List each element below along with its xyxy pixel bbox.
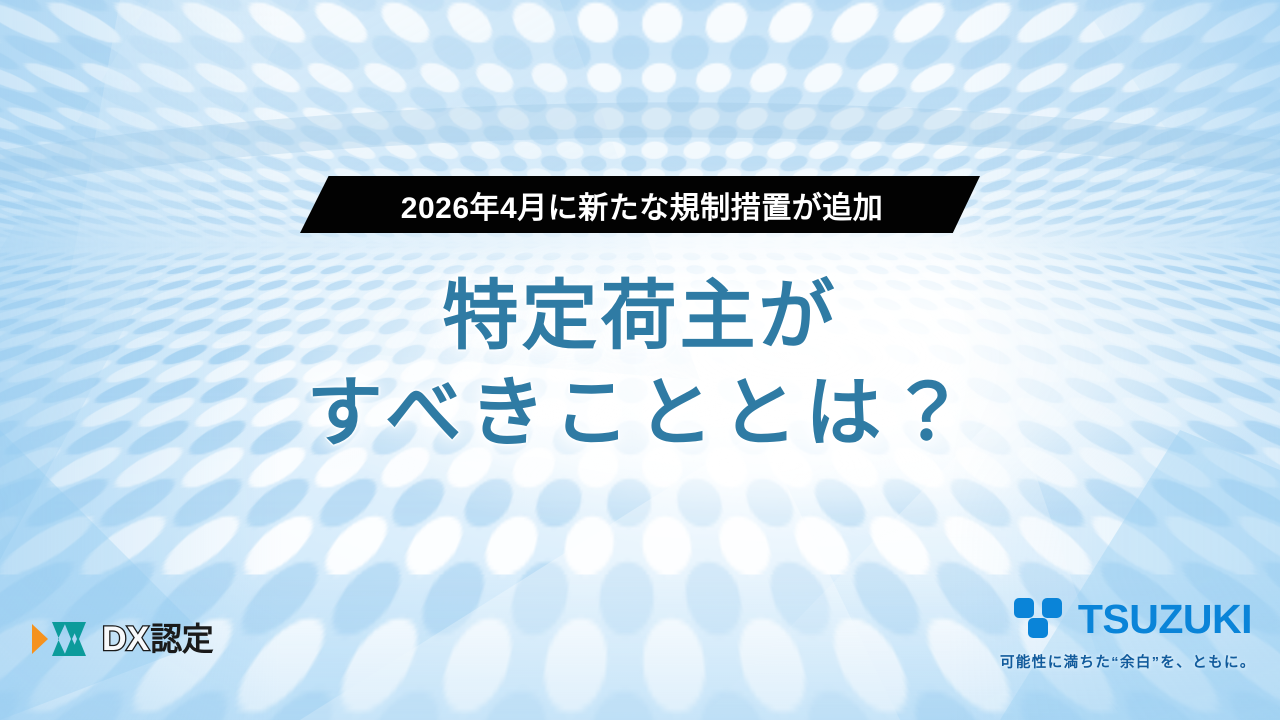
logo-square-top-right — [1042, 598, 1062, 618]
dx-hourglass-mark-icon — [30, 614, 92, 664]
banner-label: 2026年4月に新たな規制措置が追加 — [300, 176, 980, 233]
headline-line-2: すべきこととは？ — [0, 365, 1280, 462]
dx-badge-text: DX 認定 — [102, 622, 213, 656]
orange-triangle-icon — [32, 624, 48, 654]
tsuzuki-logo-top-row: TSUZUKI — [1000, 596, 1252, 642]
polygon-center-ray — [300, 430, 900, 720]
page-title: 特定荷主が すべきこととは？ — [0, 268, 1280, 463]
tsuzuki-tagline: 可能性に満ちた“余白”を、ともに。 — [1000, 651, 1252, 672]
tsuzuki-squares-mark-icon — [1012, 596, 1070, 642]
headline-line-1: 特定荷主が — [0, 268, 1280, 365]
slide-canvas: 2026年4月に新たな規制措置が追加 特定荷主が すべきこととは？ DX 認定 … — [0, 0, 1280, 720]
logo-square-bottom-center — [1028, 618, 1048, 638]
dx-latin-label: DX — [102, 622, 149, 656]
logo-square-top-left — [1014, 598, 1034, 618]
hourglass-left-icon — [52, 622, 66, 656]
tsuzuki-wordmark: TSUZUKI — [1078, 599, 1252, 640]
announcement-banner: 2026年4月に新たな規制措置が追加 — [300, 176, 980, 233]
dx-kanji-label: 認定 — [150, 623, 213, 655]
dx-certification-badge: DX 認定 — [30, 614, 213, 664]
tsuzuki-company-logo: TSUZUKI 可能性に満ちた“余白”を、ともに。 — [1000, 596, 1252, 672]
polygon-left-lower — [0, 430, 210, 720]
